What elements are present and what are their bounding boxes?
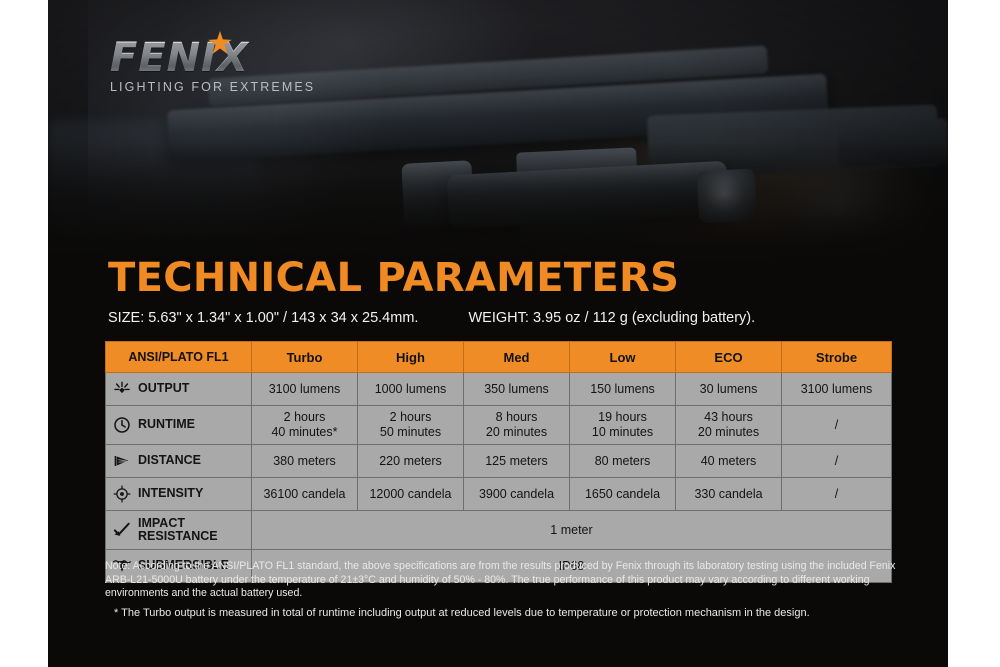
column-header-turbo: Turbo bbox=[252, 342, 358, 373]
cell-intensity-strobe: / bbox=[782, 478, 892, 511]
value-line-1: 2 hours bbox=[360, 410, 461, 425]
logo-wordmark: FENIX bbox=[110, 38, 370, 78]
cell-intensity-med: 3900 candela bbox=[464, 478, 570, 511]
page-title: TECHNICAL PARAMETERS bbox=[108, 258, 679, 298]
row-label-impact-resistance: IMPACT RESISTANCE bbox=[106, 511, 252, 550]
photo-bottom-fade bbox=[48, 142, 948, 262]
sunburst-icon bbox=[112, 379, 132, 399]
cell-output-med: 350 lumens bbox=[464, 373, 570, 406]
cell-intensity-high: 12000 candela bbox=[358, 478, 464, 511]
row-label-intensity: INTENSITY bbox=[106, 478, 252, 511]
cell-distance-turbo: 380 meters bbox=[252, 445, 358, 478]
value-line-2: 10 minutes bbox=[572, 425, 673, 440]
cell-output-turbo: 3100 lumens bbox=[252, 373, 358, 406]
cell-output-low: 150 lumens bbox=[570, 373, 676, 406]
label-line-2: RESISTANCE bbox=[138, 530, 218, 543]
cell-distance-eco: 40 meters bbox=[676, 445, 782, 478]
size-text: SIZE: 5.63" x 1.34" x 1.00" / 143 x 34 x… bbox=[108, 310, 418, 326]
content-panel: FENIX LIGHTING FOR EXTREMES TECHNICAL PA… bbox=[48, 0, 948, 667]
cell-distance-high: 220 meters bbox=[358, 445, 464, 478]
cell-intensity-eco: 330 candela bbox=[676, 478, 782, 511]
crosshair-icon bbox=[112, 484, 132, 504]
table-row-output: OUTPUT 3100 lumens 1000 lumens 350 lumen… bbox=[106, 373, 892, 406]
cell-distance-med: 125 meters bbox=[464, 445, 570, 478]
value-line-2: 20 minutes bbox=[678, 425, 779, 440]
specification-table: ANSI/PLATO FL1 Turbo High Med Low ECO St… bbox=[105, 341, 892, 583]
ansi-note: Note: According to the ANSI/PLATO FL1 st… bbox=[105, 560, 905, 601]
cell-output-eco: 30 lumens bbox=[676, 373, 782, 406]
cell-runtime-med: 8 hours 20 minutes bbox=[464, 406, 570, 445]
row-label-text: OUTPUT bbox=[138, 382, 189, 395]
value-line-1: 19 hours bbox=[572, 410, 673, 425]
value-line-1: 2 hours bbox=[254, 410, 355, 425]
row-label-text: RUNTIME bbox=[138, 418, 195, 431]
row-label-runtime: RUNTIME bbox=[106, 406, 252, 445]
cell-runtime-high: 2 hours 50 minutes bbox=[358, 406, 464, 445]
cell-output-strobe: 3100 lumens bbox=[782, 373, 892, 406]
column-header-low: Low bbox=[570, 342, 676, 373]
table-row-distance: DISTANCE 380 meters 220 meters 125 meter… bbox=[106, 445, 892, 478]
value-line-1: 8 hours bbox=[466, 410, 567, 425]
table-row-intensity: INTENSITY 36100 candela 12000 candela 39… bbox=[106, 478, 892, 511]
value-line-2: 50 minutes bbox=[360, 425, 461, 440]
weight-text: WEIGHT: 3.95 oz / 112 g (excluding batte… bbox=[469, 310, 756, 326]
row-label-text: INTENSITY bbox=[138, 487, 203, 500]
value-line-1: 43 hours bbox=[678, 410, 779, 425]
column-header-standard: ANSI/PLATO FL1 bbox=[106, 342, 252, 373]
cell-runtime-turbo: 2 hours 40 minutes* bbox=[252, 406, 358, 445]
impact-icon bbox=[112, 520, 132, 540]
table-row-impact-resistance: IMPACT RESISTANCE 1 meter bbox=[106, 511, 892, 550]
column-header-med: Med bbox=[464, 342, 570, 373]
cell-runtime-low: 19 hours 10 minutes bbox=[570, 406, 676, 445]
cell-impact-resistance-value: 1 meter bbox=[252, 511, 892, 550]
cell-intensity-low: 1650 candela bbox=[570, 478, 676, 511]
column-header-eco: ECO bbox=[676, 342, 782, 373]
size-weight-line: SIZE: 5.63" x 1.34" x 1.00" / 143 x 34 x… bbox=[108, 310, 948, 326]
product-spec-sheet: FENIX LIGHTING FOR EXTREMES TECHNICAL PA… bbox=[0, 0, 1000, 667]
value-line-2: 20 minutes bbox=[466, 425, 567, 440]
beam-icon bbox=[112, 451, 132, 471]
row-label-distance: DISTANCE bbox=[106, 445, 252, 478]
row-label-text: DISTANCE bbox=[138, 454, 201, 467]
cell-runtime-eco: 43 hours 20 minutes bbox=[676, 406, 782, 445]
fenix-logo: FENIX LIGHTING FOR EXTREMES bbox=[110, 38, 370, 94]
row-label-output: OUTPUT bbox=[106, 373, 252, 406]
cell-output-high: 1000 lumens bbox=[358, 373, 464, 406]
clock-icon bbox=[112, 415, 132, 435]
value-line-2: 40 minutes* bbox=[254, 425, 355, 440]
star-icon bbox=[207, 30, 233, 56]
cell-intensity-turbo: 36100 candela bbox=[252, 478, 358, 511]
cell-distance-low: 80 meters bbox=[570, 445, 676, 478]
cell-distance-strobe: / bbox=[782, 445, 892, 478]
row-label-text-lines: IMPACT RESISTANCE bbox=[138, 517, 218, 543]
column-header-strobe: Strobe bbox=[782, 342, 892, 373]
cell-runtime-strobe: / bbox=[782, 406, 892, 445]
table-header-row: ANSI/PLATO FL1 Turbo High Med Low ECO St… bbox=[106, 342, 892, 373]
logo-tagline: LIGHTING FOR EXTREMES bbox=[110, 80, 370, 94]
table-row-runtime: RUNTIME 2 hours 40 minutes* 2 hours 50 m… bbox=[106, 406, 892, 445]
column-header-high: High bbox=[358, 342, 464, 373]
turbo-footnote: * The Turbo output is measured in total … bbox=[114, 607, 914, 619]
